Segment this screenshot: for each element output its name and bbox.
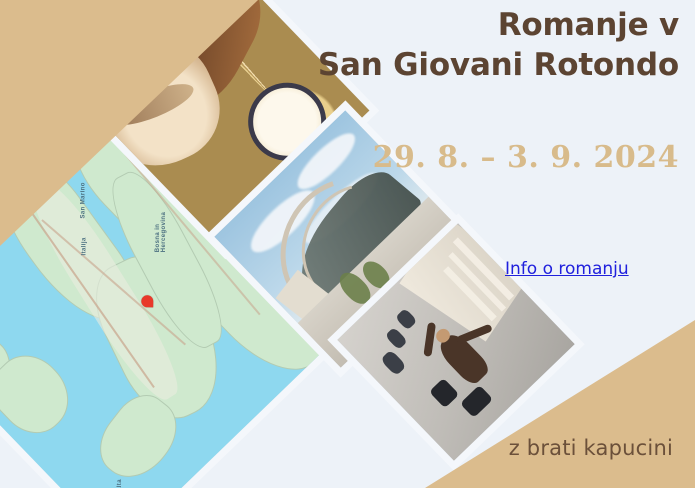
map-label-san-marino: San Marino [80,182,86,218]
info-link[interactable]: Info o romanju [505,259,629,279]
organizer-footer: z brati kapucini [509,436,673,460]
map-land-sardinia [0,342,83,447]
title-line-2: San Giovani Rotondo [239,46,679,86]
page-title: Romanje v San Giovani Rotondo [239,6,679,85]
map-marker-destination[interactable] [141,295,153,307]
pilgrimage-dates: 29. 8. – 3. 9. 2024 [239,140,679,175]
map-label-bih: Bosna in Hercegovina [155,212,167,252]
title-line-1: Romanje v [239,6,679,46]
map-label-malta: Malta [117,479,123,488]
pilgrimage-poster: Malta Hrvaška Bosna in Hercegovina Srbij… [0,0,695,488]
map-label-italija: Italija [82,237,88,255]
